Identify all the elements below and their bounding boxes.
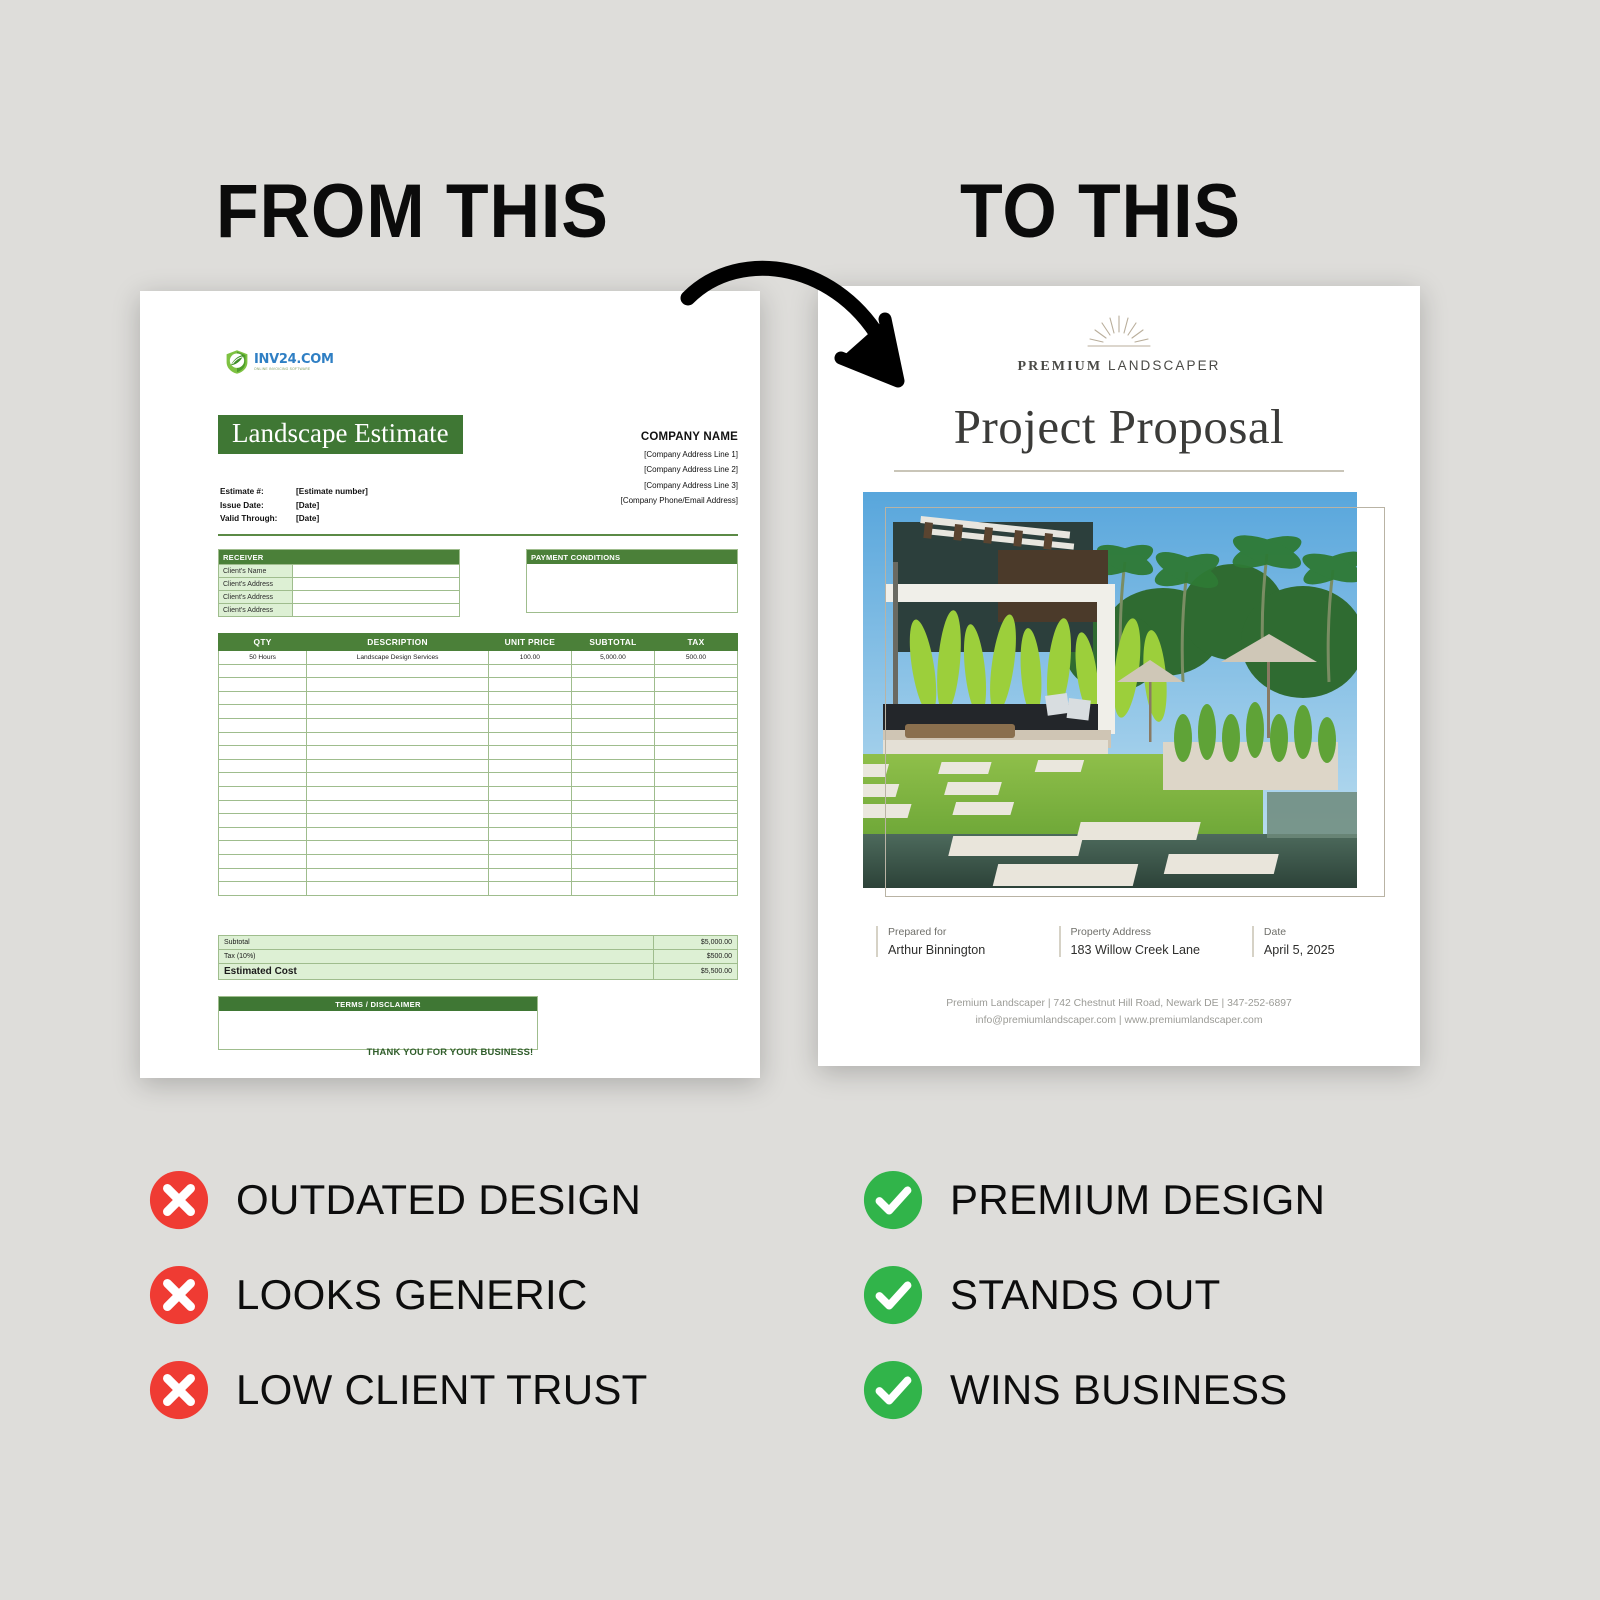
cell-empty <box>571 746 654 760</box>
cell-empty <box>307 854 489 868</box>
cell-description: Landscape Design Services <box>307 651 489 665</box>
table-row[interactable] <box>219 882 738 896</box>
cell-empty <box>571 705 654 719</box>
cell-empty <box>307 800 489 814</box>
estimate-meta: Estimate #: [Estimate number] Issue Date… <box>220 487 368 528</box>
comparison-headings: FROM THIS TO THIS <box>0 168 1600 278</box>
totals-table: Subtotal $5,000.00 Tax (10%) $500.00 Est… <box>218 935 738 980</box>
payment-conditions-box: PAYMENT CONDITIONS <box>526 549 738 613</box>
landscape-photo <box>863 492 1357 888</box>
receiver-label: Client's Address <box>219 591 293 603</box>
table-row[interactable] <box>219 800 738 814</box>
totals-row-tax: Tax (10%) $500.00 <box>219 950 738 964</box>
table-row[interactable] <box>219 759 738 773</box>
cell-empty <box>219 786 307 800</box>
column-header-qty: QTY <box>219 634 307 651</box>
cell-empty <box>219 664 307 678</box>
x-circle-icon <box>148 1359 210 1421</box>
estimate-document: INV24.COM ONLINE INVOICING SOFTWARE Land… <box>140 291 760 1078</box>
cell-empty <box>219 705 307 719</box>
cell-empty <box>307 705 489 719</box>
list-item: LOW CLIENT TRUST <box>148 1342 648 1437</box>
totals-label: Estimated Cost <box>219 964 654 980</box>
cell-empty <box>571 732 654 746</box>
column-header-description: DESCRIPTION <box>307 634 489 651</box>
cell-empty <box>571 678 654 692</box>
cell-empty <box>654 882 737 896</box>
cell-empty <box>571 868 654 882</box>
proposal-footer: Premium Landscaper | 742 Chestnut Hill R… <box>818 996 1420 1030</box>
cell-empty <box>307 786 489 800</box>
footer-line-2: info@premiumlandscaper.com | www.premium… <box>818 1013 1420 1030</box>
table-row[interactable] <box>219 732 738 746</box>
receiver-label: Client's Address <box>219 578 293 590</box>
totals-amount: $5,000.00 <box>654 936 738 950</box>
list-item: LOOKS GENERIC <box>148 1247 648 1342</box>
shield-leaf-icon <box>224 349 250 375</box>
cell-empty <box>571 773 654 787</box>
meta-label: Valid Through: <box>220 514 296 523</box>
cell-empty <box>654 746 737 760</box>
receiver-input[interactable] <box>293 578 459 590</box>
column-header-subtotal: SUBTOTAL <box>571 634 654 651</box>
receiver-label: Client's Address <box>219 604 293 616</box>
cell-empty <box>488 800 571 814</box>
cell-empty <box>488 882 571 896</box>
cell-empty <box>654 854 737 868</box>
receiver-row: Client's Name <box>219 564 459 577</box>
cell-empty <box>307 732 489 746</box>
inv24-wordmark: INV24.COM <box>254 353 334 366</box>
receiver-row: Client's Address <box>219 577 459 590</box>
table-row[interactable] <box>219 786 738 800</box>
field-prepared-for: Prepared for Arthur Binnington <box>876 926 1059 957</box>
cell-tax: 500.00 <box>654 651 737 665</box>
totals-label: Tax (10%) <box>219 950 654 964</box>
cell-empty <box>219 773 307 787</box>
cell-empty <box>654 827 737 841</box>
meta-row: Estimate #: [Estimate number] <box>220 487 368 496</box>
totals-amount: $500.00 <box>654 950 738 964</box>
meta-value: [Date] <box>296 501 319 510</box>
table-row[interactable] <box>219 814 738 828</box>
field-value: Arthur Binnington <box>888 943 1059 957</box>
cell-empty <box>219 841 307 855</box>
cell-empty <box>571 882 654 896</box>
pros-column: PREMIUM DESIGN STANDS OUT WINS BUSINESS <box>862 1152 1325 1437</box>
cell-empty <box>219 814 307 828</box>
list-item-label: WINS BUSINESS <box>950 1366 1288 1414</box>
table-row[interactable]: 50 Hours Landscape Design Services 100.0… <box>219 651 738 665</box>
cell-empty <box>488 691 571 705</box>
divider <box>218 534 738 536</box>
cell-empty <box>654 773 737 787</box>
cell-empty <box>654 800 737 814</box>
cell-empty <box>219 678 307 692</box>
cell-empty <box>219 691 307 705</box>
list-item-label: LOW CLIENT TRUST <box>236 1366 648 1414</box>
cell-empty <box>219 732 307 746</box>
cell-unit-price: 100.00 <box>488 651 571 665</box>
inv24-logo: INV24.COM ONLINE INVOICING SOFTWARE <box>224 349 334 375</box>
check-circle-icon <box>862 1264 924 1326</box>
table-row[interactable] <box>219 746 738 760</box>
cell-empty <box>307 678 489 692</box>
field-label: Property Address <box>1071 926 1252 938</box>
cell-empty <box>654 691 737 705</box>
field-label: Date <box>1264 926 1380 938</box>
list-item-label: LOOKS GENERIC <box>236 1271 588 1319</box>
heading-from-this: FROM THIS <box>216 168 609 255</box>
x-circle-icon <box>148 1264 210 1326</box>
cell-empty <box>219 827 307 841</box>
company-address-line: [Company Address Line 1] <box>468 450 738 459</box>
list-item-label: STANDS OUT <box>950 1271 1221 1319</box>
cell-empty <box>571 786 654 800</box>
meta-row: Issue Date: [Date] <box>220 501 368 510</box>
cell-empty <box>654 678 737 692</box>
cell-empty <box>307 746 489 760</box>
cell-empty <box>654 814 737 828</box>
table-row[interactable] <box>219 827 738 841</box>
cell-empty <box>654 786 737 800</box>
field-date: Date April 5, 2025 <box>1252 926 1380 957</box>
receiver-input[interactable] <box>293 565 459 577</box>
proposal-logo: PREMIUM LANDSCAPER <box>818 312 1420 375</box>
cell-empty <box>571 841 654 855</box>
meta-label: Issue Date: <box>220 501 296 510</box>
cell-empty <box>307 814 489 828</box>
receiver-box: RECEIVER Client's Name Client's Address … <box>218 549 460 617</box>
meta-label: Estimate #: <box>220 487 296 496</box>
table-row[interactable] <box>219 691 738 705</box>
check-circle-icon <box>862 1169 924 1231</box>
cell-empty <box>219 868 307 882</box>
cell-empty <box>307 664 489 678</box>
meta-value: [Estimate number] <box>296 487 368 496</box>
terms-box: TERMS / DISCLAIMER <box>218 996 538 1050</box>
empty-line-item-rows <box>219 664 738 895</box>
list-item-label: PREMIUM DESIGN <box>950 1176 1325 1224</box>
field-value: April 5, 2025 <box>1264 943 1380 957</box>
proposal-detail-fields: Prepared for Arthur Binnington Property … <box>876 926 1380 957</box>
payment-conditions-header: PAYMENT CONDITIONS <box>527 550 737 564</box>
brand-light: LANDSCAPER <box>1102 358 1220 373</box>
cell-empty <box>488 773 571 787</box>
cell-empty <box>219 854 307 868</box>
receiver-label: Client's Name <box>219 565 293 577</box>
footer-line-1: Premium Landscaper | 742 Chestnut Hill R… <box>818 996 1420 1013</box>
table-row[interactable] <box>219 773 738 787</box>
cons-column: OUTDATED DESIGN LOOKS GENERIC LOW CLIENT… <box>148 1152 648 1437</box>
line-items-body: 50 Hours Landscape Design Services 100.0… <box>219 651 738 665</box>
comparison-bullets: OUTDATED DESIGN LOOKS GENERIC LOW CLIENT… <box>0 1152 1600 1452</box>
estimate-title: Landscape Estimate <box>218 415 463 454</box>
cell-empty <box>571 827 654 841</box>
check-circle-icon <box>862 1359 924 1421</box>
cell-empty <box>571 814 654 828</box>
table-row[interactable] <box>219 705 738 719</box>
terms-header: TERMS / DISCLAIMER <box>219 997 537 1011</box>
column-header-unit-price: UNIT PRICE <box>488 634 571 651</box>
meta-value: [Date] <box>296 514 319 523</box>
proposal-title: Project Proposal <box>818 398 1420 455</box>
receiver-input[interactable] <box>293 604 459 616</box>
cell-empty <box>219 759 307 773</box>
cell-empty <box>488 718 571 732</box>
table-row[interactable] <box>219 854 738 868</box>
proposal-hero-photo <box>863 492 1375 896</box>
cell-empty <box>488 678 571 692</box>
cell-empty <box>654 705 737 719</box>
cell-empty <box>488 827 571 841</box>
proposal-document: PREMIUM LANDSCAPER Project Proposal <box>818 286 1420 1066</box>
cell-empty <box>488 705 571 719</box>
cell-empty <box>488 664 571 678</box>
meta-row: Valid Through: [Date] <box>220 514 368 523</box>
table-row[interactable] <box>219 678 738 692</box>
cell-empty <box>654 841 737 855</box>
cell-empty <box>307 882 489 896</box>
cell-empty <box>654 759 737 773</box>
cell-empty <box>307 718 489 732</box>
table-row[interactable] <box>219 664 738 678</box>
cell-empty <box>488 732 571 746</box>
cell-empty <box>307 773 489 787</box>
cell-empty <box>219 746 307 760</box>
list-item: PREMIUM DESIGN <box>862 1152 1325 1247</box>
thank-you-text: THANK YOU FOR YOUR BUSINESS! <box>140 1046 760 1057</box>
payment-conditions-input[interactable] <box>527 564 737 612</box>
cell-empty <box>307 868 489 882</box>
cell-empty <box>219 718 307 732</box>
company-name: COMPANY NAME <box>468 431 738 443</box>
cell-empty <box>571 718 654 732</box>
list-item: WINS BUSINESS <box>862 1342 1325 1437</box>
receiver-header: RECEIVER <box>219 550 459 564</box>
cell-empty <box>654 868 737 882</box>
cell-empty <box>307 759 489 773</box>
cell-qty: 50 Hours <box>219 651 307 665</box>
list-item: STANDS OUT <box>862 1247 1325 1342</box>
cell-empty <box>219 800 307 814</box>
list-item-label: OUTDATED DESIGN <box>236 1176 641 1224</box>
company-address-line: [Company Address Line 2] <box>468 465 738 474</box>
field-label: Prepared for <box>888 926 1059 938</box>
cell-empty <box>488 759 571 773</box>
inv24-tagline: ONLINE INVOICING SOFTWARE <box>254 368 334 371</box>
cell-empty <box>488 786 571 800</box>
cell-empty <box>488 746 571 760</box>
totals-amount: $5,500.00 <box>654 964 738 980</box>
list-item: OUTDATED DESIGN <box>148 1152 648 1247</box>
title-divider <box>894 470 1344 472</box>
cell-empty <box>307 691 489 705</box>
line-items-table: QTY DESCRIPTION UNIT PRICE SUBTOTAL TAX … <box>218 633 738 896</box>
field-value: 183 Willow Creek Lane <box>1071 943 1252 957</box>
company-address-line: [Company Address Line 3] <box>468 481 738 490</box>
heading-to-this: TO THIS <box>960 168 1241 255</box>
totals-label: Subtotal <box>219 936 654 950</box>
cell-empty <box>488 854 571 868</box>
cell-empty <box>307 841 489 855</box>
cell-empty <box>654 732 737 746</box>
proposal-brand: PREMIUM LANDSCAPER <box>818 358 1420 375</box>
x-circle-icon <box>148 1169 210 1231</box>
cell-empty <box>488 814 571 828</box>
receiver-row: Client's Address <box>219 603 459 616</box>
cell-empty <box>571 691 654 705</box>
cell-empty <box>571 800 654 814</box>
cell-empty <box>488 841 571 855</box>
totals-row-estimated-cost: Estimated Cost $5,500.00 <box>219 964 738 980</box>
company-block: COMPANY NAME [Company Address Line 1] [C… <box>468 431 738 505</box>
receiver-row: Client's Address <box>219 590 459 603</box>
cell-empty <box>219 882 307 896</box>
table-row[interactable] <box>219 718 738 732</box>
receiver-input[interactable] <box>293 591 459 603</box>
cell-empty <box>571 854 654 868</box>
table-header-row: QTY DESCRIPTION UNIT PRICE SUBTOTAL TAX <box>219 634 738 651</box>
brand-bold: PREMIUM <box>1017 359 1102 374</box>
cell-empty <box>571 664 654 678</box>
cell-subtotal: 5,000.00 <box>571 651 654 665</box>
company-contact-line: [Company Phone/Email Address] <box>468 496 738 505</box>
sunburst-icon <box>1074 312 1164 352</box>
field-property-address: Property Address 183 Willow Creek Lane <box>1059 926 1252 957</box>
cell-empty <box>571 759 654 773</box>
totals-row-subtotal: Subtotal $5,000.00 <box>219 936 738 950</box>
column-header-tax: TAX <box>654 634 737 651</box>
table-row[interactable] <box>219 841 738 855</box>
cell-empty <box>654 664 737 678</box>
table-row[interactable] <box>219 868 738 882</box>
cell-empty <box>307 827 489 841</box>
cell-empty <box>488 868 571 882</box>
cell-empty <box>654 718 737 732</box>
terms-input[interactable] <box>219 1011 537 1049</box>
